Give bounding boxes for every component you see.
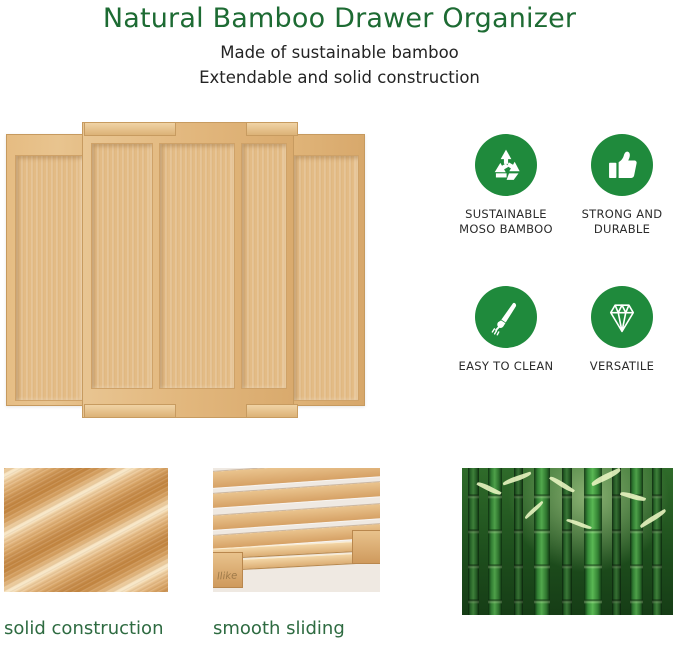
subtitle-line-2: Extendable and solid construction (0, 66, 679, 91)
feature-label: SUSTAINABLE MOSO BAMBOO (459, 207, 553, 237)
brand-watermark: llike (217, 570, 238, 582)
extension-tab-top-right (246, 122, 298, 136)
compartment-5 (293, 155, 359, 401)
caption-smooth-sliding: smooth sliding (213, 618, 413, 640)
feature-easy-to-clean: EASY TO CLEAN (452, 286, 560, 416)
detail-panel-smooth-sliding: llike (213, 468, 380, 592)
compartment-1 (15, 155, 83, 401)
product-hero-image (6, 122, 365, 418)
bamboo-forest-photo (462, 468, 673, 615)
feature-label: STRONG AND DURABLE (582, 207, 663, 237)
feature-badge-grid: SUSTAINABLE MOSO BAMBOO STRONG AND DURAB… (452, 134, 676, 416)
extension-tab-bottom-left (84, 404, 176, 418)
compartment-2 (91, 143, 153, 389)
compartment-4 (241, 143, 287, 389)
header-block: Natural Bamboo Drawer Organizer Made of … (0, 0, 679, 90)
caption-solid-construction: solid construction (4, 618, 204, 640)
recycle-icon (475, 134, 537, 196)
solid-construction-photo (4, 468, 168, 592)
extension-tab-top-left (84, 122, 176, 136)
feature-versatile: VERSATILE (568, 286, 676, 416)
brush-icon (475, 286, 537, 348)
diamond-icon (591, 286, 653, 348)
compartment-3 (159, 143, 235, 389)
page-title: Natural Bamboo Drawer Organizer (0, 0, 679, 36)
feature-label: EASY TO CLEAN (459, 359, 554, 374)
organizer-sliding-insert (82, 122, 294, 418)
feature-strong-and-durable: STRONG AND DURABLE (568, 134, 676, 264)
thumbs-up-icon (591, 134, 653, 196)
detail-panel-bamboo-forest (462, 468, 673, 615)
smooth-sliding-photo: llike (213, 468, 380, 592)
extension-tab-bottom-right (246, 404, 298, 418)
feature-label: VERSATILE (590, 359, 654, 374)
subtitle-line-1: Made of sustainable bamboo (0, 36, 679, 66)
detail-panel-solid-construction (4, 468, 168, 592)
feature-sustainable-moso-bamboo: SUSTAINABLE MOSO BAMBOO (452, 134, 560, 264)
